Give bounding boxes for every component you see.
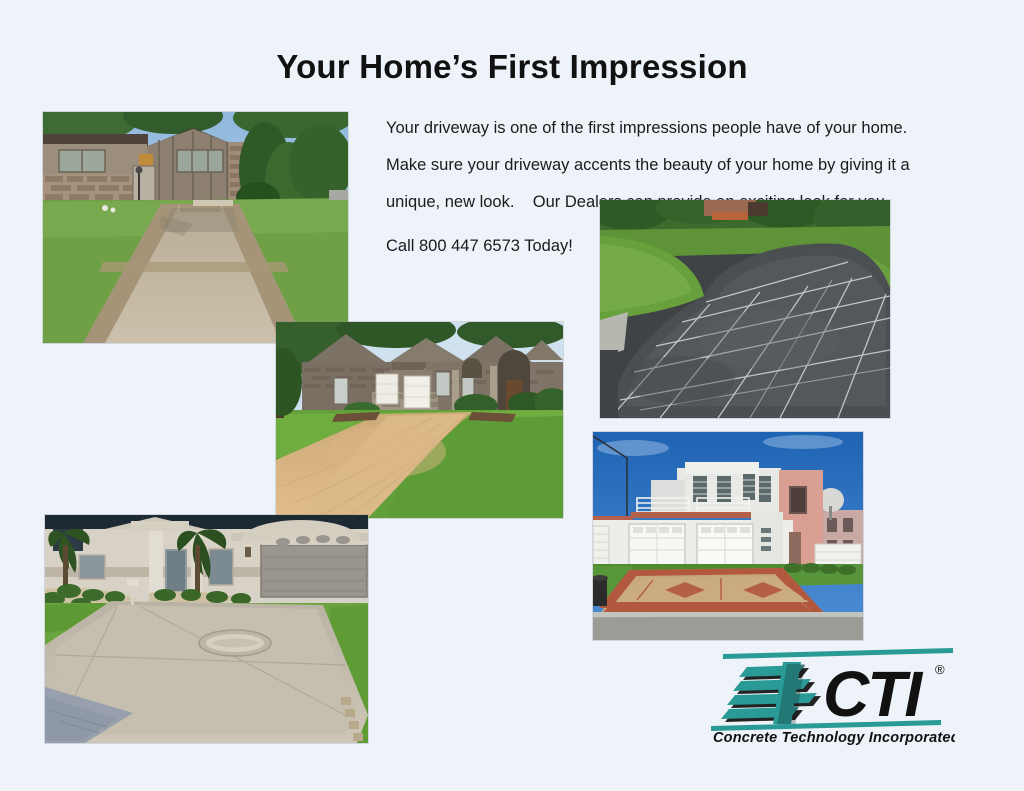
registered-trademark-icon: ® [935,662,945,677]
presentation-slide: Your Home’s First Impression Your drivew… [0,0,1024,791]
photo-brick-house-driveway [276,322,563,518]
photo-slate-stamped-driveway [600,200,890,418]
photo-ranch-house-driveway [43,112,348,343]
cti-wordmark: CTI [823,658,923,730]
body-line-1: Your driveway is one of the first impres… [386,112,946,145]
cti-logo: CTI ® Concrete Technology Incorporated [705,640,955,746]
logo-tagline: Concrete Technology Incorporated [713,730,955,746]
cti-logo-mark [721,662,821,726]
photo-stucco-house-driveway [45,515,368,743]
body-line-2: Make sure your driveway accents the beau… [386,149,946,182]
page-title: Your Home’s First Impression [0,48,1024,86]
photo-modern-house-driveway [593,432,863,640]
